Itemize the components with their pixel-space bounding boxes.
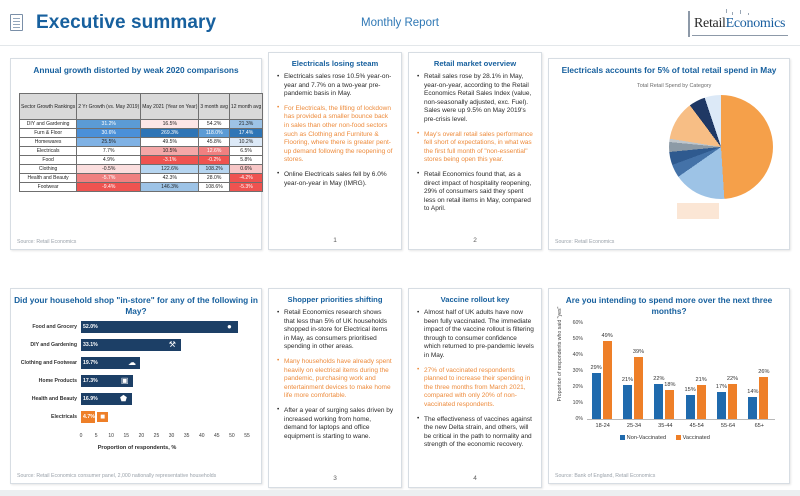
panel-2-bullet-1: Retail sales rose by 28.1% in May, year-… bbox=[417, 73, 534, 125]
pie-card: Electricals accounts for 5% of total ret… bbox=[548, 58, 790, 250]
hbar-category-label: Clothing and Footwear bbox=[13, 360, 77, 366]
hbar-x-tick: 45 bbox=[213, 433, 221, 439]
pie-subtitle: Total Retail Spend by Category bbox=[637, 83, 711, 89]
cell-two-year: 4.9% bbox=[77, 156, 141, 165]
vbar-y-tick: 20% bbox=[561, 384, 583, 390]
table-header-row: Sector Growth Rankings 2 Yr Growth (vs. … bbox=[20, 94, 263, 120]
cell-two-year: -0.5% bbox=[77, 165, 141, 174]
bottle-icon: ⬟ bbox=[118, 394, 129, 404]
hbar-value-label: 16.9% bbox=[83, 396, 98, 402]
cell-sector: Electricals bbox=[20, 147, 77, 156]
logo-retail-text: Retail bbox=[694, 16, 726, 31]
vbar-value-label: 26% bbox=[755, 369, 772, 375]
vbar-bar-non-vaccinated bbox=[654, 384, 663, 419]
table-card: Annual growth distorted by weak 2020 com… bbox=[10, 58, 262, 250]
cell-12-month: 5.8% bbox=[229, 156, 262, 165]
cell-sector: DIY and Gardening bbox=[20, 120, 77, 129]
cell-12-month: 6.5% bbox=[229, 147, 262, 156]
hbar-x-tick: 10 bbox=[107, 433, 115, 439]
panel-2-title: Retail market overview bbox=[409, 53, 541, 73]
vbar-value-label: 18% bbox=[661, 382, 678, 388]
cell-sector: Health and Beauty bbox=[20, 174, 77, 183]
cell-12-month: 17.4% bbox=[229, 129, 262, 138]
panel-1-bullet-2: For Electricals, the lifting of lockdown… bbox=[277, 105, 394, 165]
cell-may-yoy: 269.3% bbox=[141, 129, 199, 138]
cell-3-month: 118.0% bbox=[199, 129, 230, 138]
vbar-category-label: 18-24 bbox=[587, 423, 618, 429]
apple-icon: ● bbox=[224, 322, 235, 332]
hbar-value-label: 4.7% bbox=[83, 414, 95, 420]
panel-2-bullet-3: Retail Economics found that, as a direct… bbox=[417, 171, 534, 214]
th-sector: Sector Growth Rankings bbox=[20, 94, 77, 120]
hbar-x-tick: 25 bbox=[152, 433, 160, 439]
vbar-value-label: 39% bbox=[630, 349, 647, 355]
panel-4-bullet-3: The effectiveness of vaccines against th… bbox=[417, 416, 534, 450]
vbar-bar-non-vaccinated bbox=[748, 397, 757, 419]
vbar-bar-vaccinated bbox=[665, 390, 674, 419]
cell-may-yoy: 10.5% bbox=[141, 147, 199, 156]
panel-3-bullet-2: Many households have already spent heavi… bbox=[277, 358, 394, 401]
panel-vaccine-rollout: Vaccine rollout key Almost half of UK ad… bbox=[408, 288, 542, 488]
sector-growth-table: Sector Growth Rankings 2 Yr Growth (vs. … bbox=[19, 93, 263, 192]
vbar-legend: Non-Vaccinated Vaccinated bbox=[549, 435, 791, 441]
panel-electricals-losing-steam: Electricals losing steam Electricals sal… bbox=[268, 52, 402, 250]
pie-chart bbox=[669, 95, 773, 199]
table-row: Homewares25.5%49.5%45.8%10.2% bbox=[20, 138, 263, 147]
pie-card-title: Electricals accounts for 5% of total ret… bbox=[549, 59, 789, 76]
cell-sector: Clothing bbox=[20, 165, 77, 174]
hbar-bar bbox=[81, 321, 238, 333]
th-two-year: 2 Yr Growth (vs. May 2019) bbox=[77, 94, 141, 120]
cell-two-year: 25.5% bbox=[77, 138, 141, 147]
hbar-axis-title: Proportion of respondents, % bbox=[11, 445, 263, 451]
vbar-bar-vaccinated bbox=[759, 377, 768, 419]
cell-sector: Footwear bbox=[20, 183, 77, 192]
hbar-category-label: Electricals bbox=[13, 414, 77, 420]
cell-may-yoy: 16.5% bbox=[141, 120, 199, 129]
panel-1-title: Electricals losing steam bbox=[269, 53, 401, 73]
panel-3-bullet-3: After a year of surging sales driven by … bbox=[277, 407, 394, 441]
panel-retail-market-overview: Retail market overview Retail sales rose… bbox=[408, 52, 542, 250]
pie-source: Source: Retail Economics bbox=[555, 239, 614, 245]
hbar-value-label: 33.1% bbox=[83, 342, 98, 348]
report-subtitle: Monthly Report bbox=[361, 17, 439, 29]
table-card-title: Annual growth distorted by weak 2020 com… bbox=[11, 59, 261, 76]
cell-may-yoy: 49.5% bbox=[141, 138, 199, 147]
tools-icon: ⚒ bbox=[167, 340, 178, 350]
panel-2-number: 2 bbox=[409, 237, 541, 244]
table-row: Footwear-9.4%146.3%108.6%-5.3% bbox=[20, 183, 263, 192]
th-12-month: 12 month avg bbox=[229, 94, 262, 120]
hbar-category-label: Home Products bbox=[13, 378, 77, 384]
table-source: Source: Retail Economics bbox=[17, 239, 76, 245]
vbar-value-label: 49% bbox=[599, 333, 616, 339]
panel-1-number: 1 bbox=[269, 237, 401, 244]
hbar-x-tick: 0 bbox=[77, 433, 85, 439]
vbar-value-label: 21% bbox=[693, 377, 710, 383]
table-row: DIY and Gardening31.2%16.5%54.2%21.3% bbox=[20, 120, 263, 129]
cell-3-month: 108.2% bbox=[199, 165, 230, 174]
document-icon bbox=[10, 14, 24, 32]
vbar-y-tick: 50% bbox=[561, 336, 583, 342]
cell-sector: Homewares bbox=[20, 138, 77, 147]
panel-4-title: Vaccine rollout key bbox=[409, 289, 541, 309]
cell-may-yoy: 146.3% bbox=[141, 183, 199, 192]
table-row: Food4.9%-3.1%-0.2%5.8% bbox=[20, 156, 263, 165]
vbar-y-tick: 10% bbox=[561, 400, 583, 406]
hbar-category-label: DIY and Gardening bbox=[13, 342, 77, 348]
vbar-category-label: 35-44 bbox=[650, 423, 681, 429]
cell-3-month: 12.6% bbox=[199, 147, 230, 156]
vbar-bar-non-vaccinated bbox=[592, 373, 601, 419]
panel-1-bullet-1: Electricals sales rose 10.5% year-on-yea… bbox=[277, 73, 394, 99]
th-3-month: 3 month avg bbox=[199, 94, 230, 120]
vbar-bar-vaccinated bbox=[728, 384, 737, 419]
vbar-y-tick: 0% bbox=[561, 416, 583, 422]
hbar-category-label: Health and Beauty bbox=[13, 396, 77, 402]
hbar-x-tick: 55 bbox=[243, 433, 251, 439]
table-row: Furn & Floor30.6%269.3%118.0%17.4% bbox=[20, 129, 263, 138]
vbar-chart: 0%10%20%30%40%50%60%29%49%18-2421%39%25-… bbox=[549, 311, 791, 451]
cell-3-month: 108.6% bbox=[199, 183, 230, 192]
cell-may-yoy: 42.3% bbox=[141, 174, 199, 183]
page-header: Executive summary Monthly Report RetailE… bbox=[0, 0, 800, 46]
vbar-category-label: 45-54 bbox=[681, 423, 712, 429]
vbar-legend-vaccinated: Vaccinated bbox=[676, 435, 710, 441]
hbar-source: Source: Retail Economics consumer panel,… bbox=[17, 473, 216, 479]
cell-may-yoy: -3.1% bbox=[141, 156, 199, 165]
hbar-chart: Food and Grocery52.0%●DIY and Gardening3… bbox=[11, 315, 263, 445]
vbar-bar-vaccinated bbox=[603, 341, 612, 419]
hbar-card: Did your household shop "in-store" for a… bbox=[10, 288, 262, 484]
panel-1-bullet-3: Online Electricals sales fell by 6.0% ye… bbox=[277, 171, 394, 188]
hbar-value-label: 52.0% bbox=[83, 324, 98, 330]
tv-icon: ■ bbox=[97, 412, 108, 422]
vbar-source: Source: Bank of England, Retail Economic… bbox=[555, 473, 655, 479]
electricals-highlight-box bbox=[677, 203, 719, 219]
panel-3-bullet-1: Retail Economics research shows that les… bbox=[277, 309, 394, 352]
cell-may-yoy: 122.6% bbox=[141, 165, 199, 174]
th-may-yoy: May 2021 (Year on Year) bbox=[141, 94, 199, 120]
vbar-y-tick: 30% bbox=[561, 368, 583, 374]
vbar-y-tick: 60% bbox=[561, 320, 583, 326]
hbar-x-tick: 5 bbox=[92, 433, 100, 439]
vbar-category-label: 55-64 bbox=[712, 423, 743, 429]
cell-3-month: 54.2% bbox=[199, 120, 230, 129]
cell-two-year: -9.4% bbox=[77, 183, 141, 192]
hbar-x-tick: 40 bbox=[198, 433, 206, 439]
cell-3-month: -0.2% bbox=[199, 156, 230, 165]
vbar-bar-non-vaccinated bbox=[623, 385, 632, 419]
panel-4-bullet-1: Almost half of UK adults have now been f… bbox=[417, 309, 534, 361]
cell-12-month: -5.3% bbox=[229, 183, 262, 192]
cell-two-year: -5.7% bbox=[77, 174, 141, 183]
hbar-category-label: Food and Grocery bbox=[13, 324, 77, 330]
cell-sector: Food bbox=[20, 156, 77, 165]
cell-3-month: 45.8% bbox=[199, 138, 230, 147]
table-row: Health and Beauty-5.7%42.3%28.0%-4.2% bbox=[20, 174, 263, 183]
table-row: Electricals7.7%10.5%12.6%6.5% bbox=[20, 147, 263, 156]
vbar-bar-vaccinated bbox=[697, 385, 706, 419]
vbar-value-label: 22% bbox=[650, 376, 667, 382]
vbar-y-axis-title: Proportion of respondents who said "yes" bbox=[557, 299, 563, 409]
panel-shopper-priorities: Shopper priorities shifting Retail Econo… bbox=[268, 288, 402, 488]
panel-2-bullet-2: May's overall retail sales performance f… bbox=[417, 131, 534, 165]
pie-slices bbox=[669, 95, 773, 199]
panel-3-number: 3 bbox=[269, 475, 401, 482]
page-title: Executive summary bbox=[36, 12, 216, 34]
retail-economics-logo: RetailEconomics bbox=[688, 9, 792, 39]
hbar-value-label: 19.7% bbox=[83, 360, 98, 366]
vbar-category-label: 25-34 bbox=[618, 423, 649, 429]
furniture-icon: ▣ bbox=[119, 376, 130, 386]
shirt-icon: ☁ bbox=[126, 358, 137, 368]
cell-3-month: 28.0% bbox=[199, 174, 230, 183]
vbar-x-axis bbox=[587, 419, 775, 420]
cell-12-month: 0.6% bbox=[229, 165, 262, 174]
vbar-card: Are you intending to spend more over the… bbox=[548, 288, 790, 484]
vbar-bar-non-vaccinated bbox=[686, 395, 695, 419]
vbar-value-label: 22% bbox=[724, 376, 741, 382]
hbar-x-tick: 15 bbox=[122, 433, 130, 439]
vbar-bar-non-vaccinated bbox=[717, 392, 726, 419]
footer-strip bbox=[0, 490, 800, 496]
cell-two-year: 31.2% bbox=[77, 120, 141, 129]
cell-12-month: -4.2% bbox=[229, 174, 262, 183]
hbar-x-tick: 35 bbox=[183, 433, 191, 439]
vbar-category-label: 65+ bbox=[744, 423, 775, 429]
cell-sector: Furn & Floor bbox=[20, 129, 77, 138]
report-page: Executive summary Monthly Report RetailE… bbox=[0, 0, 800, 496]
logo-economics-text: Economics bbox=[726, 16, 786, 31]
table-row: Clothing-0.5%122.6%108.2%0.6% bbox=[20, 165, 263, 174]
cell-12-month: 21.3% bbox=[229, 120, 262, 129]
panel-4-number: 4 bbox=[409, 475, 541, 482]
cell-two-year: 30.6% bbox=[77, 129, 141, 138]
hbar-x-tick: 50 bbox=[228, 433, 236, 439]
hbar-x-tick: 30 bbox=[168, 433, 176, 439]
panel-3-title: Shopper priorities shifting bbox=[269, 289, 401, 309]
hbar-value-label: 17.3% bbox=[83, 378, 98, 384]
cell-two-year: 7.7% bbox=[77, 147, 141, 156]
vbar-bar-vaccinated bbox=[634, 357, 643, 419]
header-divider bbox=[0, 45, 800, 46]
vbar-legend-non-vaccinated: Non-Vaccinated bbox=[620, 435, 666, 441]
vbar-y-tick: 40% bbox=[561, 352, 583, 358]
hbar-card-title: Did your household shop "in-store" for a… bbox=[11, 289, 261, 317]
panel-4-bullet-2: 27% of vaccinated respondents planned to… bbox=[417, 367, 534, 410]
cell-12-month: 10.2% bbox=[229, 138, 262, 147]
hbar-x-tick: 20 bbox=[137, 433, 145, 439]
